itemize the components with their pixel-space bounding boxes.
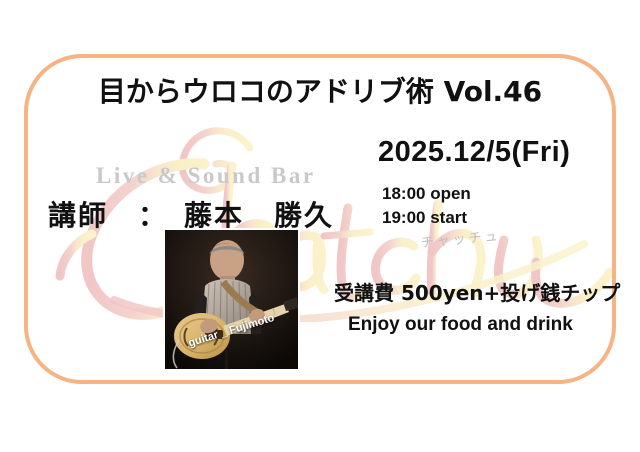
performer-photo: guitar _ Fujimoto <box>163 228 300 371</box>
fee-line: 受講費 500yen+投げ銭チップ <box>334 277 620 306</box>
chatchu-katakana-label: チャッチュ <box>420 225 501 251</box>
start-time: 19:00 start <box>382 208 467 228</box>
event-date: 2025.12/5(Fri) <box>378 136 570 169</box>
food-drink-note: Enjoy our food and drink <box>348 314 573 336</box>
flyer-poster: Live & Sound Bar チャッチュ 目からウロコのアドリブ術 Vol.… <box>0 0 640 452</box>
venue-tagline: Live & Sound Bar <box>96 163 316 189</box>
event-title: 目からウロコのアドリブ術 Vol.46 <box>0 70 640 110</box>
open-time: 18:00 open <box>382 184 471 204</box>
